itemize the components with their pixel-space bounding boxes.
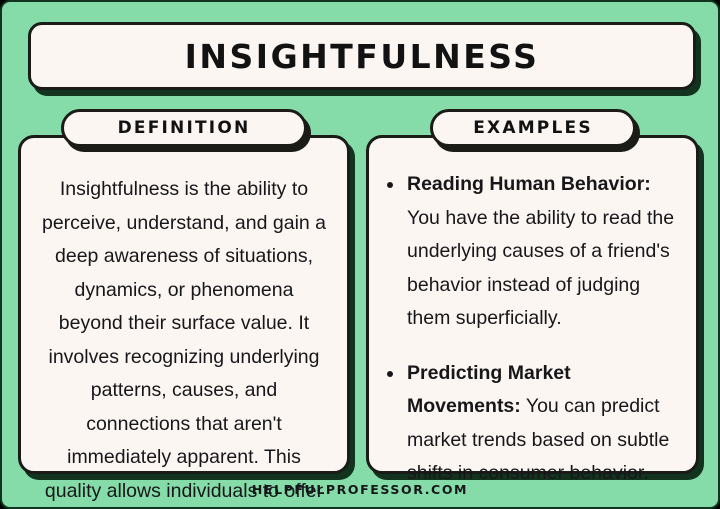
page-title: INSIGHTFULNESS [185, 40, 540, 73]
list-item: Reading Human Behavior: You have the abi… [381, 168, 682, 336]
examples-badge-label: EXAMPLES [473, 120, 593, 137]
definition-badge-label: DEFINITION [118, 120, 251, 137]
examples-badge: EXAMPLES [430, 109, 636, 147]
examples-panel: Reading Human Behavior: You have the abi… [366, 135, 699, 474]
definition-text: Insightfulness is the ability to perceiv… [41, 173, 327, 509]
footer: HELPFULPROFESSOR.COM [2, 484, 718, 497]
infographic-card: INSIGHTFULNESS Insightfulness is the abi… [0, 0, 720, 509]
example-text: You have the ability to read the underly… [407, 207, 674, 330]
definition-badge: DEFINITION [61, 109, 307, 147]
footer-attribution: HELPFULPROFESSOR.COM [2, 484, 718, 497]
example-lead: Reading Human Behavior: [407, 173, 651, 195]
list-item: Predicting Market Movements: You can pre… [381, 357, 682, 491]
definition-panel: Insightfulness is the ability to perceiv… [18, 135, 350, 474]
title-card: INSIGHTFULNESS [28, 22, 696, 90]
bullet-icon [387, 182, 393, 188]
examples-list: Reading Human Behavior: You have the abi… [381, 168, 682, 491]
bullet-icon [387, 371, 393, 377]
